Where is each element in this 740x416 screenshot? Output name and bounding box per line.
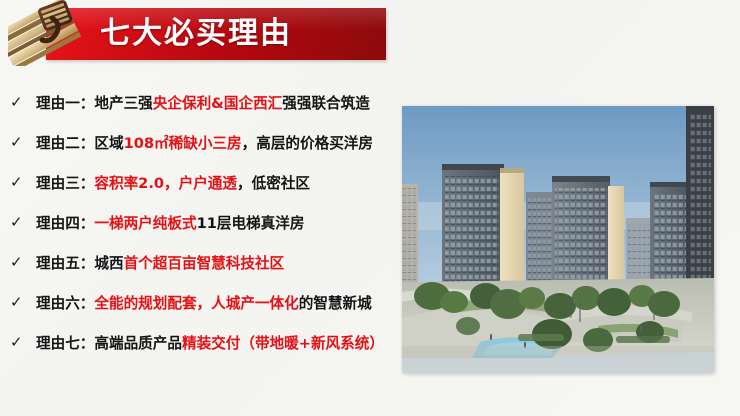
reason-highlight-text: 容积率2.0，户户通透 (94, 175, 237, 192)
check-icon: ✓ (10, 215, 36, 230)
reason-highlight-text: 央企保利&国企西汇 (153, 95, 282, 112)
reason-highlight-text: 精装交付（带地暖+新风系统） (182, 335, 384, 352)
reason-text: 理由五：城西首个超百亩智慧科技社区 (36, 257, 410, 272)
reason-list: ✓理由一：地产三强央企保利&国企西汇强强联合筑造✓理由二：区域108㎡稀缺小三房… (10, 96, 410, 376)
reason-item: ✓理由六：全能的规划配套，人城产一体化的智慧新城 (10, 296, 410, 336)
reason-plain-text: ，低密社区 (237, 175, 310, 192)
reason-text: 理由三：容积率2.0，户户通透，低密社区 (36, 177, 410, 192)
reason-label: 理由五： (36, 255, 94, 272)
reason-item: ✓理由一：地产三强央企保利&国企西汇强强联合筑造 (10, 96, 410, 136)
reason-label: 理由七： (36, 335, 94, 352)
reason-text: 理由六：全能的规划配套，人城产一体化的智慧新城 (36, 297, 410, 312)
reason-item: ✓理由二：区域108㎡稀缺小三房，高层的价格买洋房 (10, 136, 410, 176)
reason-label: 理由三： (36, 175, 94, 192)
reason-plain-text: ，高层的价格买洋房 (242, 135, 373, 152)
reason-text: 理由一：地产三强央企保利&国企西汇强强联合筑造 (36, 97, 410, 112)
reason-highlight-text: 108㎡稀缺小三房 (124, 135, 242, 152)
reason-label: 理由二： (36, 135, 94, 152)
page-title: 七大必买理由 (100, 19, 292, 49)
reason-text: 理由四：一梯两户纯板式11层电梯真洋房 (36, 217, 410, 232)
check-icon: ✓ (10, 135, 36, 150)
reason-text: 理由二：区域108㎡稀缺小三房，高层的价格买洋房 (36, 137, 410, 152)
reason-label: 理由四： (36, 215, 94, 232)
reason-text: 理由七：高端品质产品精装交付（带地暖+新风系统） (36, 337, 410, 352)
reason-label: 理由六： (36, 295, 94, 312)
reason-item: ✓理由五：城西首个超百亩智慧科技社区 (10, 256, 410, 296)
reason-plain-text: 区域 (94, 135, 123, 152)
reason-item: ✓理由四：一梯两户纯板式11层电梯真洋房 (10, 216, 410, 256)
reason-plain-text: 11层电梯真洋房 (197, 215, 305, 232)
reason-plain-text: 高端品质产品 (94, 335, 182, 352)
reason-highlight-text: 一梯两户纯板式 (94, 215, 196, 232)
residential-complex-rendering (402, 106, 714, 373)
check-icon: ✓ (10, 95, 36, 110)
reason-highlight-text: 首个超百亩智慧科技社区 (124, 255, 285, 272)
check-icon: ✓ (10, 295, 36, 310)
reason-plain-text: 地产三强 (94, 95, 152, 112)
reason-plain-text: 城西 (94, 255, 123, 272)
reason-plain-text: 的智慧新城 (299, 295, 372, 312)
check-icon: ✓ (10, 175, 36, 190)
check-icon: ✓ (10, 335, 36, 350)
slide-canvas: 七大必买理由 (0, 0, 740, 416)
title-banner: 七大必买理由 (46, 8, 386, 60)
reason-plain-text: 强强联合筑造 (282, 95, 370, 112)
check-icon: ✓ (10, 255, 36, 270)
reason-label: 理由一： (36, 95, 94, 112)
reason-item: ✓理由七：高端品质产品精装交付（带地暖+新风系统） (10, 336, 410, 376)
reason-highlight-text: 全能的规划配套，人城产一体化 (94, 295, 298, 312)
reason-item: ✓理由三：容积率2.0，户户通透，低密社区 (10, 176, 410, 216)
